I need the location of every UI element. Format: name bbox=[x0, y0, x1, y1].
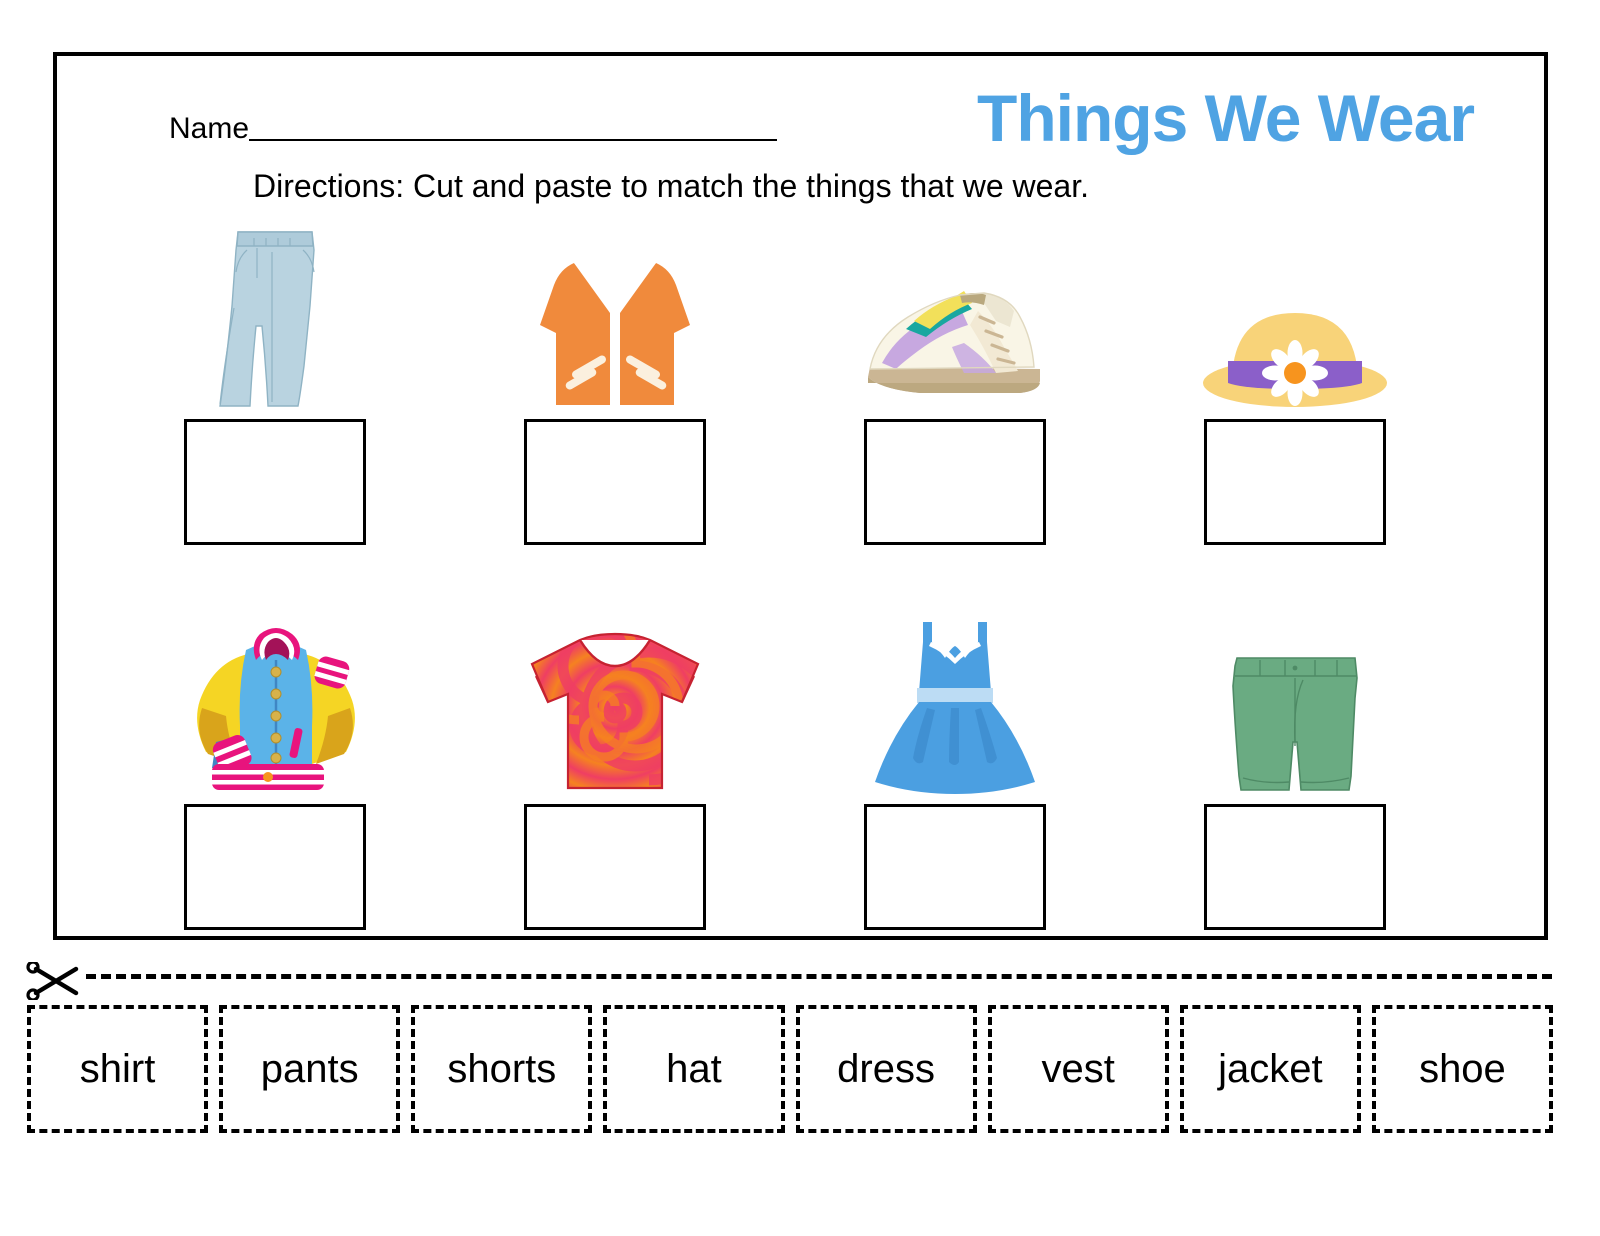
word-card-dress[interactable]: dress bbox=[796, 1005, 977, 1133]
pants-art-slot bbox=[125, 216, 425, 411]
item-cell-shorts bbox=[1145, 601, 1445, 930]
dashed-cut-line bbox=[86, 974, 1552, 979]
answer-box-shirt[interactable] bbox=[524, 804, 706, 930]
item-row-1 bbox=[57, 216, 1544, 546]
vest-art-slot bbox=[465, 216, 765, 411]
word-card-shorts[interactable]: shorts bbox=[411, 1005, 592, 1133]
word-card-label: dress bbox=[837, 1049, 935, 1089]
word-card-label: hat bbox=[666, 1049, 722, 1089]
shoe-illustration bbox=[860, 281, 1050, 411]
word-card-label: shirt bbox=[80, 1049, 156, 1089]
scissors-icon bbox=[26, 962, 82, 1000]
word-card-label: pants bbox=[261, 1049, 359, 1089]
word-card-pants[interactable]: pants bbox=[219, 1005, 400, 1133]
word-card-label: shoe bbox=[1419, 1049, 1506, 1089]
shorts-art-slot bbox=[1145, 601, 1445, 796]
dress-art-slot bbox=[805, 601, 1105, 796]
shoe-art-slot bbox=[805, 216, 1105, 411]
hat-illustration bbox=[1202, 299, 1388, 411]
item-row-2 bbox=[57, 601, 1544, 931]
word-card-vest[interactable]: vest bbox=[988, 1005, 1169, 1133]
cut-line-row bbox=[0, 960, 1600, 1000]
jacket-art-slot bbox=[125, 601, 425, 796]
word-card-label: vest bbox=[1042, 1049, 1115, 1089]
page-title: Things We Wear bbox=[977, 80, 1474, 156]
dress-illustration bbox=[867, 616, 1043, 796]
name-write-line[interactable] bbox=[249, 139, 777, 141]
word-card-label: jacket bbox=[1218, 1049, 1323, 1089]
answer-box-jacket[interactable] bbox=[184, 804, 366, 930]
word-card-strip: shirt pants shorts hat dress vest jacket… bbox=[27, 1005, 1553, 1133]
word-card-shirt[interactable]: shirt bbox=[27, 1005, 208, 1133]
word-card-hat[interactable]: hat bbox=[603, 1005, 784, 1133]
shorts-illustration bbox=[1215, 646, 1375, 796]
jacket-illustration bbox=[180, 616, 370, 796]
answer-box-vest[interactable] bbox=[524, 419, 706, 545]
vest-illustration bbox=[530, 251, 700, 411]
name-label: Name bbox=[169, 114, 249, 144]
item-cell-hat bbox=[1145, 216, 1445, 545]
directions-text: Directions: Cut and paste to match the t… bbox=[253, 168, 1089, 205]
word-card-jacket[interactable]: jacket bbox=[1180, 1005, 1361, 1133]
name-field-row: Name bbox=[169, 114, 777, 144]
item-cell-dress bbox=[805, 601, 1105, 930]
item-cell-shoe bbox=[805, 216, 1105, 545]
item-cell-jacket bbox=[125, 601, 425, 930]
item-cell-shirt bbox=[465, 601, 765, 930]
worksheet-frame: Name Things We Wear Directions: Cut and … bbox=[53, 52, 1548, 940]
item-cell-vest bbox=[465, 216, 765, 545]
answer-box-dress[interactable] bbox=[864, 804, 1046, 930]
pants-illustration bbox=[200, 216, 350, 411]
shirt-illustration bbox=[522, 626, 708, 796]
hat-art-slot bbox=[1145, 216, 1445, 411]
word-card-label: shorts bbox=[447, 1049, 556, 1089]
answer-box-shorts[interactable] bbox=[1204, 804, 1386, 930]
answer-box-shoe[interactable] bbox=[864, 419, 1046, 545]
item-cell-pants bbox=[125, 216, 425, 545]
answer-box-hat[interactable] bbox=[1204, 419, 1386, 545]
shirt-art-slot bbox=[465, 601, 765, 796]
answer-box-pants[interactable] bbox=[184, 419, 366, 545]
word-card-shoe[interactable]: shoe bbox=[1372, 1005, 1553, 1133]
